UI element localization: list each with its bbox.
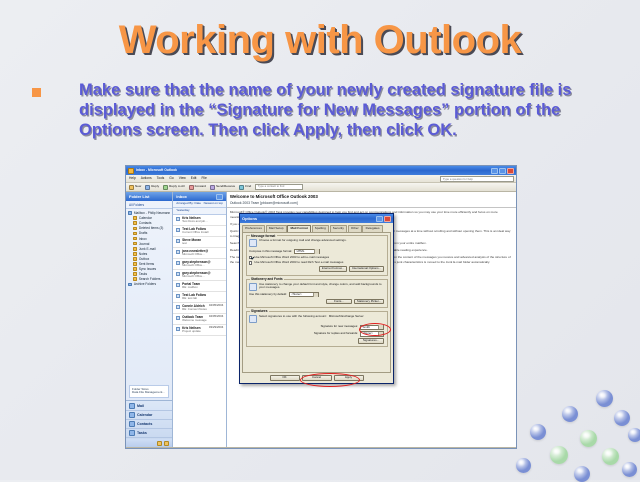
envelope-icon [176, 261, 180, 265]
message-text: jane.newsletter@Microsoft Office... [182, 249, 223, 257]
nav-button-mail[interactable]: Mail [126, 402, 172, 411]
message-format-icon [249, 239, 257, 247]
chevron-down-icon [378, 332, 383, 336]
message-preview: RE: Connect Notes [182, 308, 207, 312]
toolbar-icon [189, 185, 194, 190]
message-subject: Welcome to Microsoft Office Outlook 2003 [230, 194, 513, 200]
compose-format-label: Compose in this message format: [249, 250, 292, 254]
message-preview: Current Office Install [182, 231, 223, 235]
message-preview: Microsoft Office... [182, 264, 223, 268]
folder-label: Calendar [139, 216, 152, 220]
cancel-button[interactable]: Cancel [302, 375, 332, 381]
envelope-icon [176, 327, 180, 331]
message-date: 04/05/2004 [209, 315, 223, 323]
close-icon[interactable] [507, 168, 514, 174]
message-preview: test [182, 242, 223, 246]
tab-mail-format[interactable]: Mail Format [287, 225, 311, 232]
tab-delegates[interactable]: Delegates [362, 225, 382, 232]
envelope-icon [176, 272, 180, 276]
tab-spelling[interactable]: Spelling [312, 225, 329, 232]
toolbar-send-receive[interactable]: Send/Receive [210, 185, 235, 190]
signatures-description: Select signatures to use with the follow… [259, 315, 327, 319]
decorative-sphere [516, 458, 531, 473]
decorative-sphere [530, 424, 546, 440]
signatures-group: Signatures Select signatures to use with… [246, 311, 388, 347]
toolbar-label: Reply [151, 185, 159, 189]
stationery-legend: Stationery and Fonts [250, 277, 285, 281]
toolbar-icon [210, 185, 215, 190]
folder-label: Drafts [139, 231, 148, 235]
folder-icon [133, 232, 137, 236]
message-preview: Project update [182, 330, 207, 334]
nav-button-label: Mail [137, 404, 144, 408]
message-list-header: Inbox [173, 192, 226, 201]
signature-icon [249, 315, 257, 323]
message-row[interactable]: gary.stephenson@Microsoft Office... [173, 270, 226, 281]
folder-label: Contacts [139, 221, 152, 225]
group-label: Yesterday [176, 209, 189, 213]
status-bar: 100 Items 4 Items in Filtered Folder Con… [126, 447, 516, 449]
folder-icon [133, 221, 137, 225]
use-word-read-label: Use Microsoft Office Word 2003 to read R… [254, 261, 343, 265]
folder-tree-item[interactable]: Archive Folders [128, 282, 170, 287]
envelope-icon [176, 316, 180, 320]
use-stationery-row: Use this stationery by default: <None> [249, 292, 384, 297]
chevron-down-icon [314, 249, 319, 253]
all-folders-label: All Folders [126, 201, 172, 209]
message-preview: Welcome message [182, 319, 207, 323]
slide-title-container: Working with Outlook [0, 18, 640, 63]
toolbar-reply[interactable]: Reply [145, 185, 159, 190]
mailbox-icon [128, 283, 132, 287]
options-tab-panel: Message format Choose a format for outgo… [242, 232, 391, 373]
decorative-spheres [510, 384, 640, 480]
stationery-picker-button[interactable]: Stationery Picker... [354, 299, 384, 305]
new-messages-signature-row: Signature for new messages: Smith [249, 325, 384, 330]
navigation-pane: Folder List All Folders Mailbox - Philip… [126, 192, 173, 447]
toolbar-label: Send/Receive [216, 185, 235, 189]
use-word-edit-label: Use Microsoft Office Word 2003 to edit e… [254, 256, 329, 260]
compose-format-row: Compose in this message format: HTML [249, 249, 384, 254]
replies-signature-select[interactable]: <None> [360, 331, 384, 336]
folder-icon [133, 227, 137, 231]
data-file-management-link[interactable]: Data File Management... [132, 391, 166, 395]
slide-root: Working with Outlook Make sure that the … [0, 0, 640, 480]
minimize-icon[interactable] [491, 168, 498, 174]
window-controls [491, 168, 514, 174]
nav-button-contacts[interactable]: Contacts [126, 420, 172, 429]
chevron-down-icon [378, 325, 383, 329]
fonts-button[interactable]: Fonts... [326, 299, 352, 305]
group-header: Yesterday [173, 208, 226, 215]
sort-order-label: Newest on top [204, 202, 223, 206]
toolbar-icon [163, 185, 168, 190]
message-row[interactable]: Connie AldrichRE: Connect Notes04/05/200… [173, 303, 226, 314]
tasks-icon [129, 430, 135, 436]
message-preview: Microsoft Office... [182, 275, 223, 279]
replies-signature-value: <None> [363, 331, 373, 336]
signatures-button[interactable]: Signatures... [358, 338, 384, 344]
menu-item-tools[interactable]: Tools [157, 176, 165, 180]
message-row[interactable]: Outlook TeamWelcome message04/05/2004 [173, 314, 226, 325]
folder-icon [133, 272, 137, 276]
tab-mail-setup[interactable]: Mail Setup [266, 225, 287, 232]
help-icon[interactable] [376, 216, 383, 222]
folder-label: Archive Folders [134, 282, 156, 286]
stationery-group: Stationery and Fonts Use stationery to c… [246, 279, 388, 308]
toolbar-label: Reply to All [169, 185, 184, 189]
stationery-buttons: Fonts... Stationery Picker... [249, 299, 384, 305]
notes-icon[interactable] [164, 441, 169, 446]
message-preview: RE: test lab [182, 297, 223, 301]
folder-tree-item[interactable]: Mailbox - Philip Neumann [128, 211, 170, 216]
menu-item-go[interactable]: Go [169, 176, 173, 180]
dialog-window-controls [376, 216, 391, 222]
folder-icon [133, 216, 137, 220]
toolbar-find[interactable]: Find [239, 185, 251, 190]
folder-label: Junk E-mail [139, 247, 156, 251]
folder-sizes-note: Folder Sizes Data File Management... [129, 385, 169, 399]
message-row[interactable]: Portal TeamRE: mailbox [173, 281, 226, 292]
calendar-icon [129, 412, 135, 418]
stationery-description: Use stationery to change your default fo… [259, 283, 384, 291]
message-row[interactable]: Test Lab FollowRE: test lab [173, 292, 226, 303]
inbox-label: Inbox [176, 194, 187, 199]
message-preview: Microsoft Office... [182, 253, 223, 257]
ok-button[interactable]: OK [270, 375, 300, 381]
folder-label: Outbox [139, 257, 149, 261]
folder-label: Tasks [139, 272, 147, 276]
message-row[interactable]: Test Lab FollowCurrent Office Install [173, 226, 226, 237]
new-messages-signature-value: Smith [363, 325, 370, 330]
envelope-icon [176, 294, 180, 298]
folder-icon [133, 277, 137, 281]
message-date: 04/05/2004 [209, 304, 223, 312]
toolbar-icon [145, 185, 150, 190]
folder-label: Inbox [139, 237, 147, 241]
message-text: Kris NeilsenProject update [182, 326, 207, 334]
bullet-text: Make sure that the name of your newly cr… [79, 80, 618, 140]
message-sender: Outlook 2003 Team [pbloom@microsoft.com] [230, 201, 513, 205]
decorative-sphere [622, 462, 637, 477]
message-text: Outlook TeamWelcome message [182, 315, 207, 323]
nav-button-tasks[interactable]: Tasks [126, 429, 172, 438]
message-text: Steve Morantest [182, 238, 223, 246]
reading-pane-header: Welcome to Microsoft Office Outlook 2003… [227, 192, 516, 208]
folder-label: Notes [139, 252, 147, 256]
configure-buttons-icon[interactable] [157, 441, 162, 446]
message-date: 03/29/2004 [209, 326, 223, 334]
contacts-icon [129, 421, 135, 427]
folder-icon [133, 252, 137, 256]
message-row[interactable]: gary.stephenson@Microsoft Office... [173, 259, 226, 270]
message-text: gary.stephenson@Microsoft Office... [182, 260, 223, 268]
stationery-icon [249, 283, 257, 291]
new-messages-signature-label: Signature for new messages: [321, 325, 358, 329]
menu-item-file[interactable]: File [201, 176, 206, 180]
signatures-buttons: Signatures... [249, 338, 384, 344]
apply-button[interactable]: Apply [334, 375, 364, 381]
options-dialog-title-bar: Options [240, 214, 393, 223]
folder-label: Sync Issues [139, 267, 156, 271]
outlook-toolbar: NewReplyReply to AllForwardSend/ReceiveF… [126, 183, 516, 192]
nav-button-label: Contacts [137, 422, 152, 426]
decorative-sphere [562, 406, 578, 422]
folder-tree[interactable]: Mailbox - Philip NeumannCalendarContacts… [126, 209, 172, 383]
toolbar-icon [129, 185, 134, 190]
message-text: gary.stephenson@Microsoft Office... [182, 271, 223, 279]
folder-label: Deleted Items (3) [139, 226, 163, 230]
options-dialog: Options PreferencesMail SetupMail Format… [239, 213, 394, 384]
envelope-icon [176, 283, 180, 287]
nav-button-calendar[interactable]: Calendar [126, 411, 172, 420]
use-stationery-label: Use this stationery by default: [249, 293, 287, 297]
options-dialog-title: Options [242, 216, 257, 221]
folder-list-header: Folder List [126, 192, 172, 201]
folder-icon [133, 257, 137, 261]
toolbar-label: Forward [195, 185, 206, 189]
options-dialog-footer: OKCancelApply [240, 375, 393, 383]
options-tabs[interactable]: PreferencesMail SetupMail FormatSpelling… [240, 223, 393, 232]
message-text: Portal TeamRE: mailbox [182, 282, 223, 290]
message-row[interactable]: Kris NeilsenProject update03/29/2004 [173, 325, 226, 336]
message-format-description: Choose a format for outgoing mail and ch… [259, 239, 347, 243]
replies-signature-row: Signature for replies and forwards: <Non… [249, 331, 384, 336]
body-block: Make sure that the name of your newly cr… [30, 80, 618, 140]
message-row[interactable]: jane.newsletter@Microsoft Office... [173, 248, 226, 259]
mail-icon [129, 403, 135, 409]
ask-a-question-input[interactable]: Type a question for help [440, 176, 514, 182]
international-options-button[interactable]: International Options... [349, 266, 384, 272]
folder-icon [133, 262, 137, 266]
menu-item-edit[interactable]: Edit [191, 176, 197, 180]
page-title: Working with Outlook [119, 18, 522, 63]
window-title: Inbox - Microsoft Outlook [136, 168, 177, 172]
tab-security[interactable]: Security [330, 225, 348, 232]
new-messages-signature-select[interactable]: Smith [360, 325, 384, 330]
decorative-sphere [596, 390, 613, 407]
decorative-sphere [550, 446, 568, 464]
envelope-icon [176, 250, 180, 254]
signatures-account-label: Microsoft Exchange Server [329, 315, 364, 319]
message-text: Kris NeilsenTest Docs and job... [182, 216, 223, 224]
toolbar-forward[interactable]: Forward [189, 185, 206, 190]
menu-item-actions[interactable]: Actions [141, 176, 152, 180]
envelope-icon [176, 217, 180, 221]
tab-other[interactable]: Other [348, 225, 362, 232]
replies-signature-label: Signature for replies and forwards: [314, 332, 358, 336]
folder-icon [133, 247, 137, 251]
folder-label: Search Folders [139, 277, 161, 281]
signatures-legend: Signatures [250, 309, 269, 313]
use-word-edit-row[interactable]: Use Microsoft Office Word 2003 to edit e… [249, 256, 384, 260]
tab-preferences[interactable]: Preferences [242, 225, 265, 232]
message-format-buttons: Internet Format... International Options… [249, 266, 384, 272]
message-row[interactable]: Kris NeilsenTest Docs and job... [173, 215, 226, 226]
nav-pane-tray [126, 439, 172, 447]
message-list-pane: Inbox Arranged By: Date Newest on top Ye… [173, 192, 227, 447]
use-word-read-checkbox[interactable] [249, 261, 252, 264]
arrange-by-label: Arranged By: Date [176, 202, 201, 206]
stationery-desc-row: Use stationery to change your default fo… [249, 283, 384, 291]
message-preview: RE: mailbox [182, 286, 223, 290]
message-text: Test Lab FollowCurrent Office Install [182, 227, 223, 235]
use-stationery-select[interactable]: <None> [289, 292, 319, 297]
toolbar-label: New [135, 185, 141, 189]
folder-label: Sent Items [139, 262, 154, 266]
signatures-desc-row: Select signatures to use with the follow… [249, 315, 384, 323]
nav-button-label: Tasks [137, 431, 147, 435]
chevron-down-icon [313, 293, 318, 297]
compose-format-select[interactable]: HTML [294, 249, 320, 254]
nav-pane-buttons: MailCalendarContactsTasks [126, 400, 172, 439]
message-format-legend: Message format [250, 234, 277, 238]
use-stationery-value: <None> [291, 292, 301, 297]
message-format-desc-row: Choose a format for outgoing mail and ch… [249, 239, 384, 247]
outlook-app-icon [128, 168, 134, 174]
bullet-marker [32, 88, 41, 97]
decorative-sphere [580, 430, 597, 447]
folder-label: Mailbox - Philip Neumann [134, 211, 170, 215]
toolbar-label: Find [245, 185, 251, 189]
folder-label: Journal [139, 242, 149, 246]
toolbar-reply-to-all[interactable]: Reply to All [163, 185, 184, 190]
use-word-edit-checkbox[interactable] [249, 256, 252, 259]
use-word-read-row[interactable]: Use Microsoft Office Word 2003 to read R… [249, 261, 384, 265]
nav-button-label: Calendar [137, 413, 152, 417]
maximize-icon[interactable] [499, 168, 506, 174]
message-row[interactable]: Steve Morantest [173, 237, 226, 248]
outlook-title-bar: Inbox - Microsoft Outlook [126, 166, 516, 175]
compose-format-value: HTML [297, 249, 305, 254]
folder-icon [216, 194, 223, 200]
envelope-icon [176, 305, 180, 309]
menu-item-view[interactable]: View [179, 176, 186, 180]
dialog-close-icon[interactable] [384, 216, 391, 222]
message-rows[interactable]: Kris NeilsenTest Docs and job...Test Lab… [173, 215, 226, 336]
toolbar-new[interactable]: New [129, 185, 141, 190]
folder-icon [133, 267, 137, 271]
embedded-outlook-screenshot: Inbox - Microsoft Outlook HelpActionsToo… [125, 165, 517, 449]
decorative-sphere [614, 410, 630, 426]
folder-icon [133, 242, 137, 246]
decorative-sphere [602, 448, 619, 465]
folder-icon [133, 237, 137, 241]
mailbox-icon [128, 211, 132, 215]
internet-format-button[interactable]: Internet Format... [319, 266, 347, 272]
message-text: Test Lab FollowRE: test lab [182, 293, 223, 301]
message-format-group: Message format Choose a format for outgo… [246, 235, 388, 275]
envelope-icon [176, 239, 180, 243]
outlook-menu-bar: HelpActionsToolsGoViewEditFile Type a qu… [126, 175, 516, 183]
message-preview: Test Docs and job... [182, 220, 223, 224]
decorative-sphere [628, 428, 640, 442]
arrange-by-row[interactable]: Arranged By: Date Newest on top [173, 201, 226, 208]
menu-item-help[interactable]: Help [129, 176, 136, 180]
message-text: Connie AldrichRE: Connect Notes [182, 304, 207, 312]
toolbar-icon [239, 185, 244, 190]
find-contact-input[interactable]: Type a contact to find [255, 184, 303, 190]
envelope-icon [176, 228, 180, 232]
toolbar-type-a-contact-to-find[interactable]: Type a contact to find [255, 184, 303, 190]
